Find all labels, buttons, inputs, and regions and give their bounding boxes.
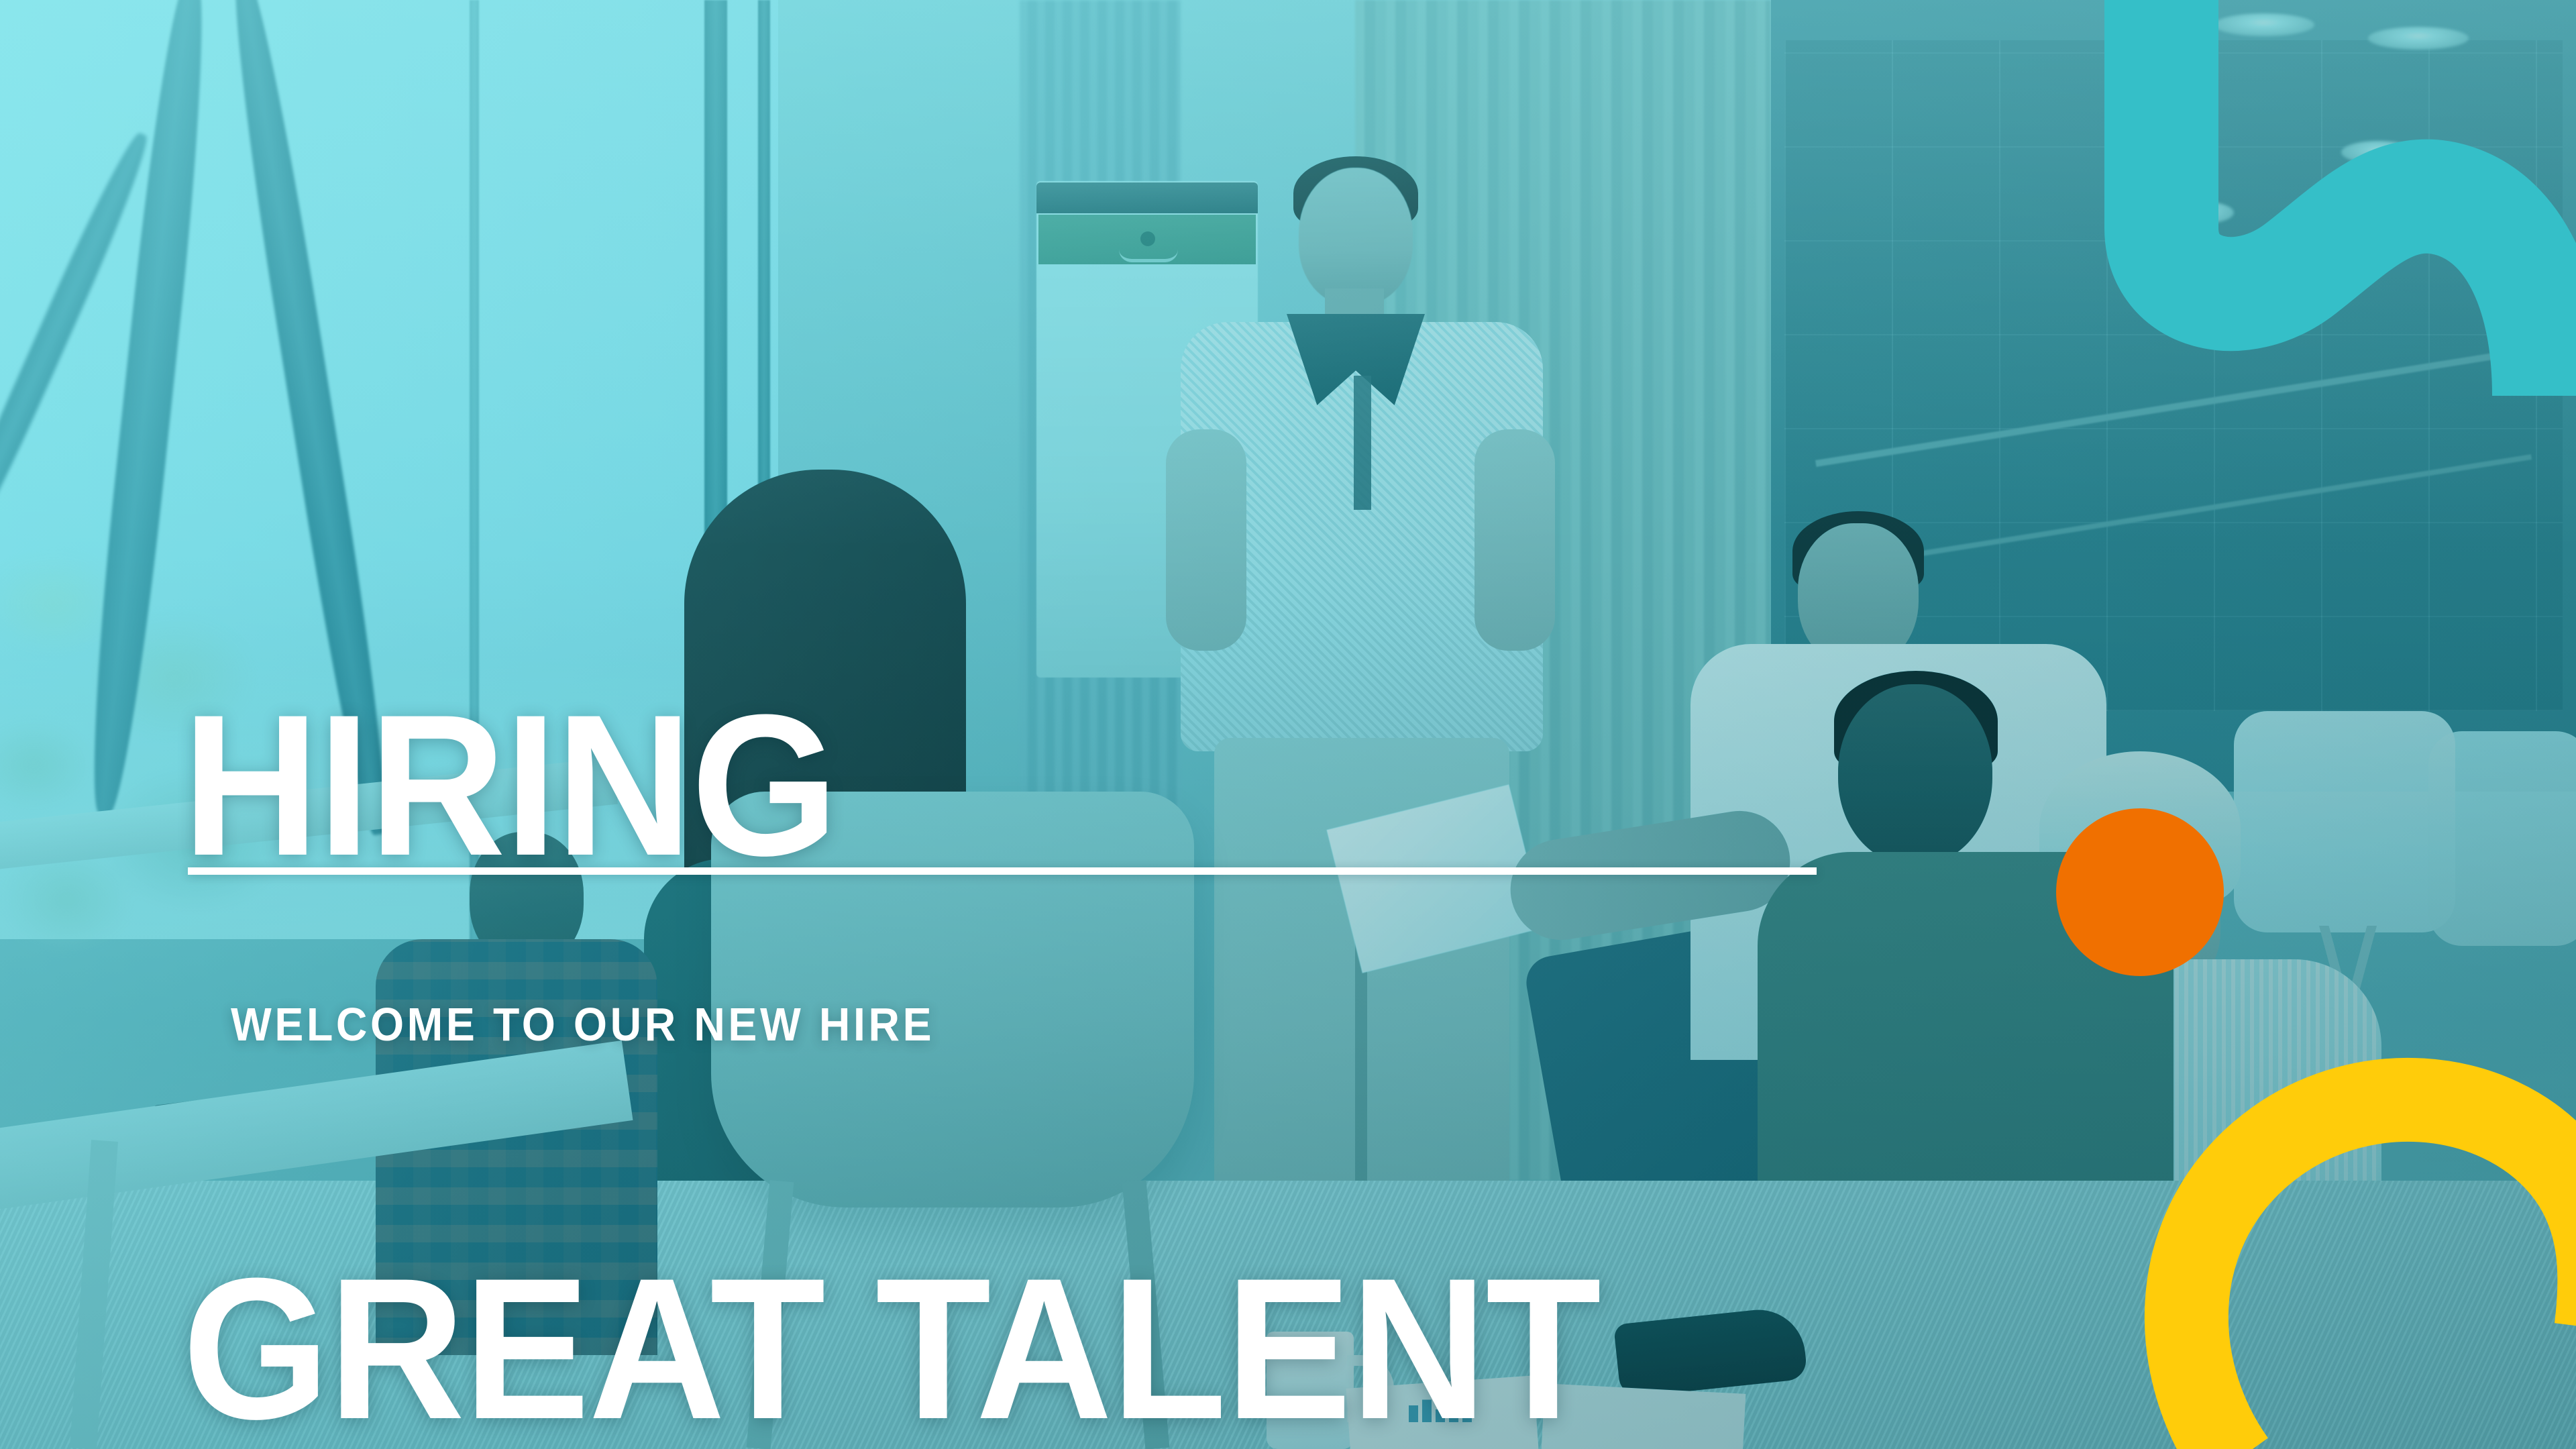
headline-line-1: HIRING bbox=[182, 691, 1600, 879]
subtitle: WELCOME TO OUR NEW HIRE bbox=[231, 998, 934, 1051]
page-title: HIRING GREAT TALENT bbox=[182, 315, 1600, 1449]
headline-line-2: GREAT TALENT bbox=[182, 1254, 1600, 1442]
text-layer: HIRING GREAT TALENT WELCOME TO OUR NEW H… bbox=[0, 0, 2576, 1449]
white-rule-divider bbox=[188, 867, 1817, 875]
hiring-poster: HIRING GREAT TALENT WELCOME TO OUR NEW H… bbox=[0, 0, 2576, 1449]
